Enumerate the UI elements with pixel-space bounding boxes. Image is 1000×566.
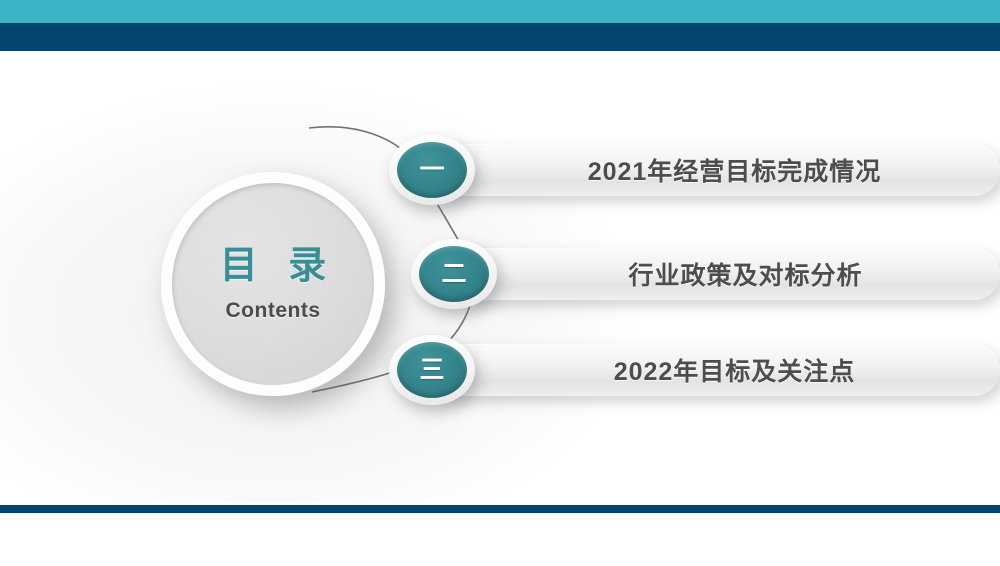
slide-canvas: 目 录 Contents 2021年经营目标完成情况 一 行业政策及对标分析 二: [0, 0, 1000, 566]
contents-title-en: Contents: [226, 299, 321, 323]
toc-row-2[interactable]: 行业政策及对标分析 二: [411, 248, 1000, 300]
toc-label-3: 2022年目标及关注点: [574, 352, 856, 388]
contents-title-cn: 目 录: [210, 245, 337, 289]
toc-pill-3[interactable]: 2022年目标及关注点: [429, 344, 1000, 396]
toc-badge-2[interactable]: 二: [411, 239, 497, 309]
toc-pill-1[interactable]: 2021年经营目标完成情况: [429, 144, 1000, 196]
toc-row-1[interactable]: 2021年经营目标完成情况 一: [389, 144, 1000, 196]
toc-badge-face-1: 一: [397, 142, 467, 198]
top-navy-band: [0, 23, 1000, 51]
top-teal-band: [0, 0, 1000, 23]
toc-label-2: 行业政策及对标分析: [588, 256, 862, 292]
toc-numeral-3: 三: [419, 358, 444, 383]
toc-numeral-2: 二: [441, 262, 466, 287]
toc-pill-2[interactable]: 行业政策及对标分析: [451, 248, 1000, 300]
toc-badge-face-2: 二: [419, 246, 489, 302]
toc-numeral-1: 一: [419, 158, 444, 183]
toc-badge-3[interactable]: 三: [389, 335, 475, 405]
footer: 金叶集团 JINYE GROUP 深市代码 000812 2: [0, 513, 1000, 566]
toc-badge-1[interactable]: 一: [389, 135, 475, 205]
footer-divider: [0, 505, 1000, 513]
toc-row-3[interactable]: 2022年目标及关注点 三: [389, 344, 1000, 396]
contents-circle: 目 录 Contents: [161, 172, 385, 396]
toc-label-1: 2021年经营目标完成情况: [548, 152, 882, 188]
contents-circle-face: 目 录 Contents: [172, 183, 374, 385]
toc-badge-face-3: 三: [397, 342, 467, 398]
